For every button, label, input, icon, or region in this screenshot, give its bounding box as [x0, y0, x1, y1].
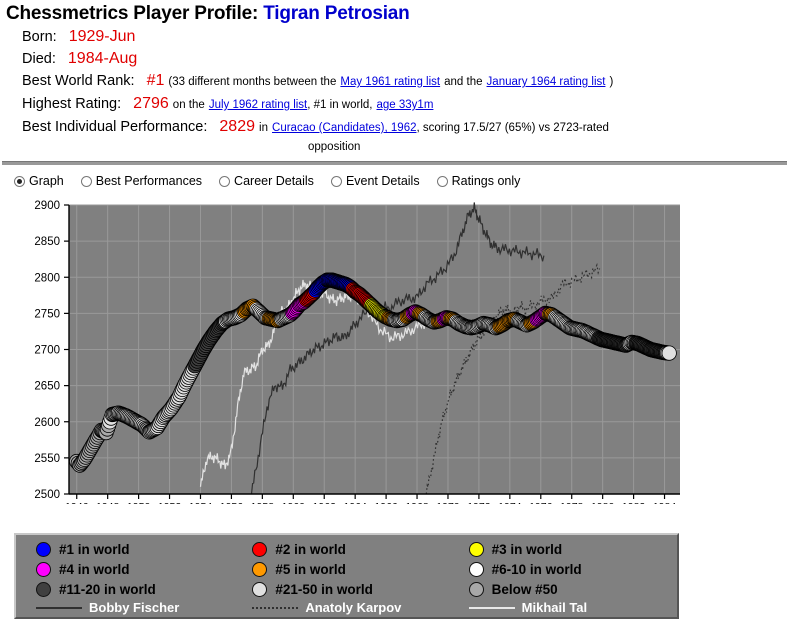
legend-item: #21-50 in world [238, 579, 454, 599]
legend-color-swatch-icon [252, 542, 267, 557]
x-axis-tick-label: 1980 [591, 501, 615, 504]
rank-note-c: ) [609, 76, 613, 88]
legend-line-label: Bobby Fischer [89, 600, 179, 615]
rank-note-a: (33 different months between the [168, 76, 336, 88]
rating-chart: 2500255026002650270027502800285029001946… [0, 194, 789, 504]
x-axis-tick-label: 1956 [220, 501, 244, 504]
fact-best-world-rank: Best World Rank: #1 (33 different months… [22, 71, 789, 92]
legend-item-label: #6-10 in world [492, 562, 582, 577]
player-name: Tigran Petrosian [263, 3, 409, 24]
fact-best-performance: Best Individual Performance: 2829 in Cur… [22, 117, 789, 138]
x-axis-tick-label: 1948 [96, 501, 120, 504]
legend-item: #5 in world [238, 559, 454, 579]
y-axis-tick-label: 2850 [34, 236, 60, 248]
radio-career-details-label: Career Details [234, 174, 314, 188]
legend-line-item: Bobby Fischer [22, 600, 238, 615]
radio-event-details-icon[interactable] [331, 176, 342, 187]
rating-value: 2796 [133, 95, 169, 112]
page-title: Chessmetrics Player Profile: Tigran Petr… [6, 3, 789, 25]
rank-link-january-1964[interactable]: January 1964 rating list [487, 76, 606, 88]
legend-item-label: #3 in world [492, 542, 563, 557]
y-axis-tick-label: 2800 [34, 272, 60, 284]
radio-best-performances-label: Best Performances [96, 174, 202, 188]
legend-line-icon [252, 607, 298, 609]
x-axis-tick-label: 1958 [251, 501, 275, 504]
legend-line-item: Mikhail Tal [455, 600, 671, 615]
x-axis-tick-label: 1976 [529, 501, 553, 504]
legend-item: #6-10 in world [455, 559, 671, 579]
performance-note-c: opposition [308, 140, 789, 154]
performance-link-curacao[interactable]: Curacao (Candidates), 1962 [272, 122, 416, 134]
born-value: 1929-Jun [69, 28, 136, 45]
born-label: Born: [22, 29, 57, 45]
legend-item-label: #1 in world [59, 542, 130, 557]
legend-item-label: Below #50 [492, 582, 558, 597]
rating-note-a: on the [173, 99, 205, 111]
player-facts: Born: 1929-Jun Died: 1984-Aug Best World… [22, 27, 789, 154]
y-axis-tick-label: 2700 [34, 345, 60, 357]
legend-color-swatch-icon [252, 562, 267, 577]
legend-color-swatch-icon [469, 562, 484, 577]
died-value: 1984-Aug [68, 50, 137, 67]
y-axis-tick-label: 2750 [34, 308, 60, 320]
legend-line-label: Anatoly Karpov [305, 600, 401, 615]
y-axis-tick-label: 2900 [34, 200, 60, 212]
performance-note-b: , scoring 17.5/27 (65%) vs 2723-rated [417, 122, 609, 134]
fact-born: Born: 1929-Jun [22, 27, 789, 47]
x-axis-tick-label: 1950 [127, 501, 151, 504]
x-axis-tick-label: 1960 [282, 501, 306, 504]
legend-item-label: #2 in world [275, 542, 346, 557]
radio-career-details[interactable]: Career Details [219, 174, 314, 188]
legend-item: #4 in world [22, 559, 238, 579]
legend-item-label: #5 in world [275, 562, 346, 577]
legend-color-swatch-icon [252, 582, 267, 597]
legend-color-swatch-icon [469, 582, 484, 597]
legend-color-swatch-icon [36, 582, 51, 597]
radio-event-details-label: Event Details [346, 174, 420, 188]
player-profile-page: Chessmetrics Player Profile: Tigran Petr… [0, 3, 789, 624]
fact-died: Died: 1984-Aug [22, 49, 789, 69]
legend-item-label: #21-50 in world [275, 582, 373, 597]
legend-line-icon [36, 607, 82, 609]
legend-item-label: #11-20 in world [59, 582, 156, 597]
rank-note-b: and the [444, 76, 482, 88]
legend-color-swatch-icon [36, 542, 51, 557]
radio-graph-label: Graph [29, 174, 64, 188]
view-options: Graph Best Performances Career Details E… [14, 174, 789, 188]
performance-note-a: in [259, 122, 268, 134]
x-axis-tick-label: 1954 [189, 501, 213, 504]
legend-line-item: Anatoly Karpov [238, 600, 454, 615]
performance-label: Best Individual Performance: [22, 119, 207, 135]
legend-line-icon [469, 607, 515, 609]
x-axis-tick-label: 1970 [436, 501, 460, 504]
legend-line-label: Mikhail Tal [522, 600, 588, 615]
rank-link-may-1961[interactable]: May 1961 rating list [340, 76, 440, 88]
legend-item: #1 in world [22, 539, 238, 559]
radio-best-performances-icon[interactable] [81, 176, 92, 187]
rating-chart-svg: 2500255026002650270027502800285029001946… [0, 194, 789, 504]
performance-value: 2829 [219, 118, 255, 135]
radio-ratings-only-icon[interactable] [437, 176, 448, 187]
rank-label: Best World Rank: [22, 73, 135, 89]
legend-item-label: #4 in world [59, 562, 130, 577]
rating-note-b: , #1 in world, [307, 99, 372, 111]
x-axis-tick-label: 1978 [560, 501, 584, 504]
x-axis-tick-label: 1962 [313, 501, 337, 504]
y-axis-tick-label: 2600 [34, 417, 60, 429]
header-divider [2, 161, 787, 165]
radio-best-performances[interactable]: Best Performances [81, 174, 202, 188]
rating-point [662, 346, 676, 360]
legend-item: #3 in world [455, 539, 671, 559]
y-axis-tick-label: 2500 [34, 489, 60, 501]
rating-label: Highest Rating: [22, 96, 121, 112]
radio-graph-icon[interactable] [14, 176, 25, 187]
legend-line-grid: Bobby FischerAnatoly KarpovMikhail Tal [22, 600, 671, 615]
chart-legend: #1 in world#2 in world#3 in world#4 in w… [14, 533, 679, 619]
rating-link-age[interactable]: age 33y1m [377, 99, 434, 111]
legend-color-swatch-icon [469, 542, 484, 557]
died-label: Died: [22, 51, 56, 67]
rating-link-july-1962[interactable]: July 1962 rating list [209, 99, 307, 111]
legend-item: #2 in world [238, 539, 454, 559]
radio-ratings-only[interactable]: Ratings only [437, 174, 521, 188]
x-axis-tick-label: 1966 [374, 501, 398, 504]
legend-color-swatch-icon [36, 562, 51, 577]
radio-ratings-only-label: Ratings only [452, 174, 521, 188]
y-axis-tick-label: 2550 [34, 453, 60, 465]
fact-highest-rating: Highest Rating: 2796 on the July 1962 ra… [22, 94, 789, 115]
x-axis-tick-label: 1968 [405, 501, 429, 504]
x-axis-tick-label: 1946 [65, 501, 89, 504]
rank-value: #1 [147, 72, 165, 89]
x-axis-tick-label: 1972 [467, 501, 491, 504]
radio-event-details[interactable]: Event Details [331, 174, 420, 188]
radio-graph[interactable]: Graph [14, 174, 64, 188]
x-axis-tick-label: 1952 [158, 501, 182, 504]
legend-item: Below #50 [455, 579, 671, 599]
radio-career-details-icon[interactable] [219, 176, 230, 187]
x-axis-tick-label: 1964 [343, 501, 367, 504]
page-title-prefix: Chessmetrics Player Profile: [6, 3, 258, 24]
x-axis-tick-label: 1974 [498, 501, 522, 504]
legend-item: #11-20 in world [22, 579, 238, 599]
legend-swatch-grid: #1 in world#2 in world#3 in world#4 in w… [22, 539, 671, 599]
x-axis-tick-label: 1984 [653, 501, 677, 504]
y-axis-tick-label: 2650 [34, 381, 60, 393]
x-axis-tick-label: 1982 [622, 501, 646, 504]
